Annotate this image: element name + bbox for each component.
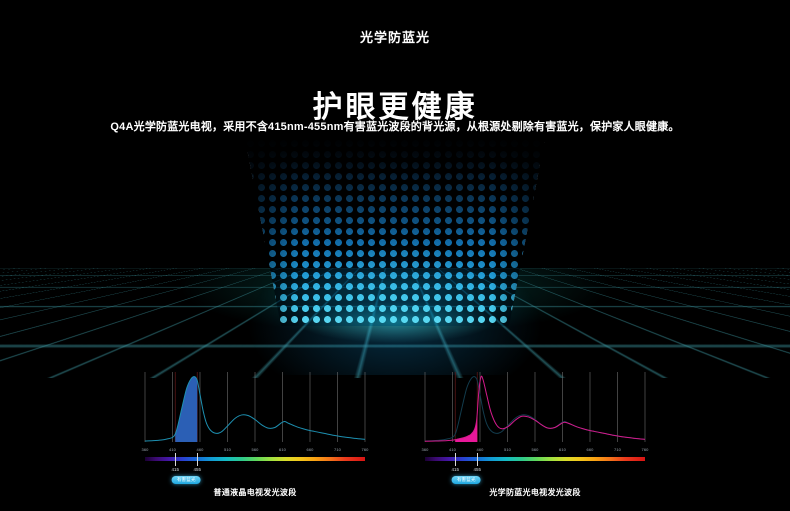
band-marker-end-filtered: [477, 453, 478, 466]
spectrum-charts: 360410460510560610660710760 415 455 有害蓝光…: [0, 368, 790, 511]
visible-spectrum-bar-ordinary: [145, 457, 365, 461]
axis-tick-label: 660: [307, 447, 314, 452]
axis-tick-label: 710: [334, 447, 341, 452]
axis-tick-label: 610: [279, 447, 286, 452]
chart-caption-ordinary: 普通液晶电视发光波段: [137, 487, 373, 498]
band-label-start-filtered: 415: [451, 467, 459, 472]
axis-tick-label: 360: [142, 447, 149, 452]
axis-tick-label: 560: [532, 447, 539, 452]
harmful-blue-light-badge-ordinary: 有害蓝光: [172, 476, 201, 484]
section-eyebrow: 光学防蓝光: [0, 27, 790, 46]
axis-tick-label: 660: [587, 447, 594, 452]
chart-ordinary-lcd: 360410460510560610660710760 415 455 有害蓝光…: [137, 368, 373, 511]
band-label-end-ordinary: 455: [193, 467, 201, 472]
harmful-blue-light-badge-filtered: 有害蓝光: [452, 476, 481, 484]
axis-tick-label: 410: [169, 447, 176, 452]
visible-spectrum-bar-filtered: [425, 457, 645, 461]
spectrum-plot-filtered: [417, 372, 653, 447]
band-marker-start-filtered: [455, 453, 456, 466]
axis-tick-label: 610: [559, 447, 566, 452]
axis-tick-label: 510: [504, 447, 511, 452]
chart-caption-filtered: 光学防蓝光电视发光波段: [417, 487, 653, 498]
axis-tick-label: 560: [252, 447, 259, 452]
axis-tick-label: 410: [449, 447, 456, 452]
chart-blue-light-filtered: 360410460510560610660710760 415 455 有害蓝光…: [417, 368, 653, 511]
band-marker-end-ordinary: [197, 453, 198, 466]
axis-tick-label: 710: [614, 447, 621, 452]
band-label-end-filtered: 455: [473, 467, 481, 472]
axis-tick-label: 510: [224, 447, 231, 452]
band-marker-start-ordinary: [175, 453, 176, 466]
axis-tick-label: 460: [477, 447, 484, 452]
hero-stage: 光学防蓝光 护眼更健康 Q4A光学防蓝光电视，采用不含415nm-455nm有害…: [0, 0, 790, 511]
spectrum-plot-ordinary: [137, 372, 373, 447]
axis-tick-label: 460: [197, 447, 204, 452]
band-label-start-ordinary: 415: [171, 467, 179, 472]
section-description: Q4A光学防蓝光电视，采用不含415nm-455nm有害蓝光波段的背光源，从根源…: [0, 118, 790, 134]
axis-tick-label: 760: [642, 447, 649, 452]
axis-tick-label: 760: [362, 447, 369, 452]
axis-tick-label: 360: [422, 447, 429, 452]
led-backlight-dot-matrix: [245, 138, 545, 326]
